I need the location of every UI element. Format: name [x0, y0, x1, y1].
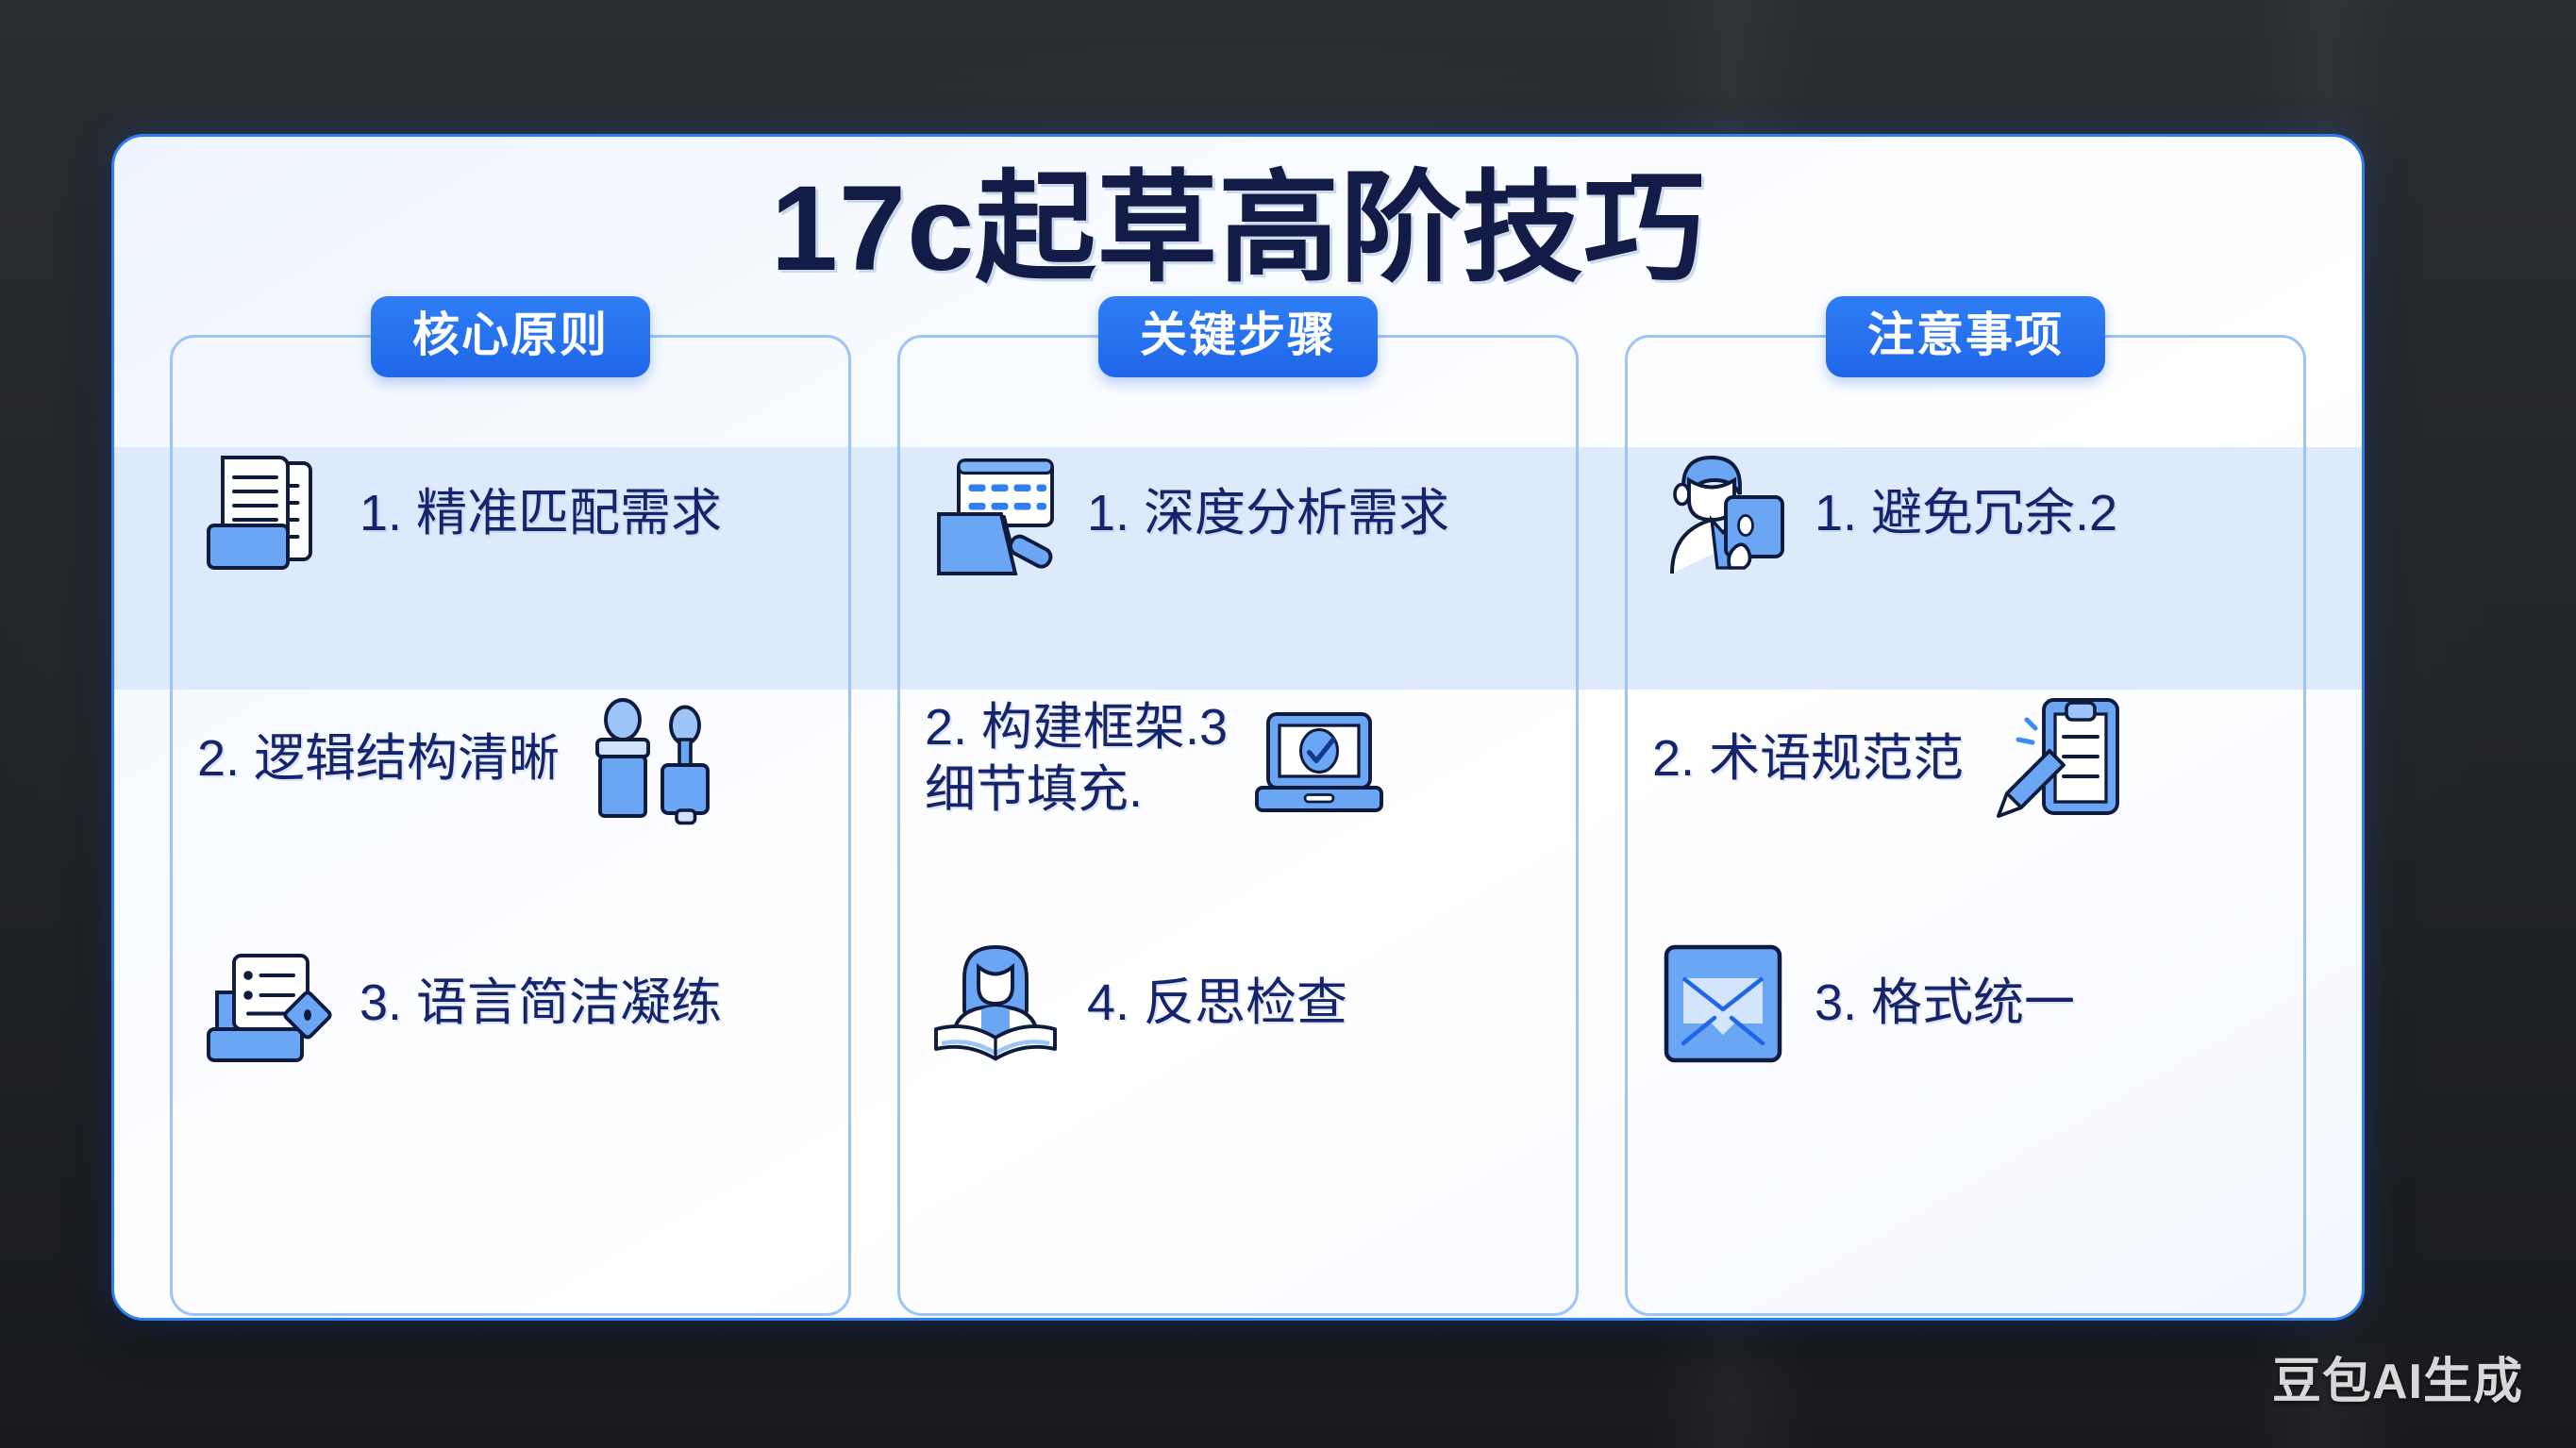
list-item-label: 3. 语言简洁凝练 — [360, 973, 722, 1035]
reader-book-icon — [925, 933, 1066, 1074]
page-title: 17c起草高阶技巧 — [114, 158, 2362, 300]
list-item[interactable]: 1. 精准匹配需求 — [173, 391, 848, 638]
list-item[interactable]: 3. 格式统一 — [1628, 880, 2303, 1127]
laptop-check-icon — [1248, 689, 1390, 830]
documents-icon — [197, 443, 339, 585]
list-item-label: 1. 精准匹配需求 — [360, 483, 722, 545]
infographic-card: 17c起草高阶技巧 核心原则 — [111, 134, 2365, 1321]
column-rows: 1. 避免冗余.2 — [1628, 391, 2303, 1313]
column-cautions: 注意事项 — [1625, 335, 2306, 1316]
list-item-label: 1. 深度分析需求 — [1087, 483, 1449, 545]
clipboard-pencil-icon — [1984, 689, 2126, 830]
column-rows: 1. 深度分析需求 2. 构建框架.3 细节填充. — [900, 391, 1576, 1313]
list-item[interactable]: 3. 语言简洁凝练 — [173, 880, 848, 1127]
envelope-icon — [1652, 933, 1794, 1074]
note-edit-icon — [197, 933, 339, 1074]
column-rows: 1. 精准匹配需求 2. 逻辑结构清 — [173, 391, 848, 1313]
column-header-badge[interactable]: 关键步骤 — [1098, 296, 1378, 377]
list-item[interactable]: 1. 深度分析需求 — [900, 391, 1576, 638]
column-header-badge[interactable]: 注意事项 — [1826, 296, 2105, 377]
watermark: 豆包AI生成 — [2272, 1341, 2523, 1412]
list-item-label: 2. 术语规范范 — [1652, 728, 1964, 791]
list-item[interactable]: 2. 术语规范范 — [1628, 638, 2303, 880]
column-core-principles: 核心原则 — [170, 335, 851, 1316]
presentation-board-icon — [925, 443, 1066, 585]
column-key-steps: 关键步骤 — [897, 335, 1579, 1316]
podium-speaker-icon — [580, 689, 722, 830]
list-item-label: 3. 格式统一 — [1815, 973, 2075, 1035]
list-item[interactable]: 4. 反思检查 — [900, 880, 1576, 1127]
list-item-label: 2. 构建框架.3 细节填充. — [925, 697, 1228, 822]
list-item[interactable]: 2. 逻辑结构清晰 — [173, 638, 848, 880]
list-item[interactable]: 1. 避免冗余.2 — [1628, 391, 2303, 638]
list-item-label: 2. 逻辑结构清晰 — [197, 728, 560, 791]
column-header-badge[interactable]: 核心原则 — [371, 296, 650, 377]
columns-container: 核心原则 — [114, 335, 2362, 1316]
list-item[interactable]: 2. 构建框架.3 细节填充. — [900, 638, 1576, 880]
list-item-label: 4. 反思检查 — [1087, 973, 1347, 1035]
list-item-label: 1. 避免冗余.2 — [1815, 483, 2117, 545]
person-tablet-icon — [1652, 443, 1794, 585]
